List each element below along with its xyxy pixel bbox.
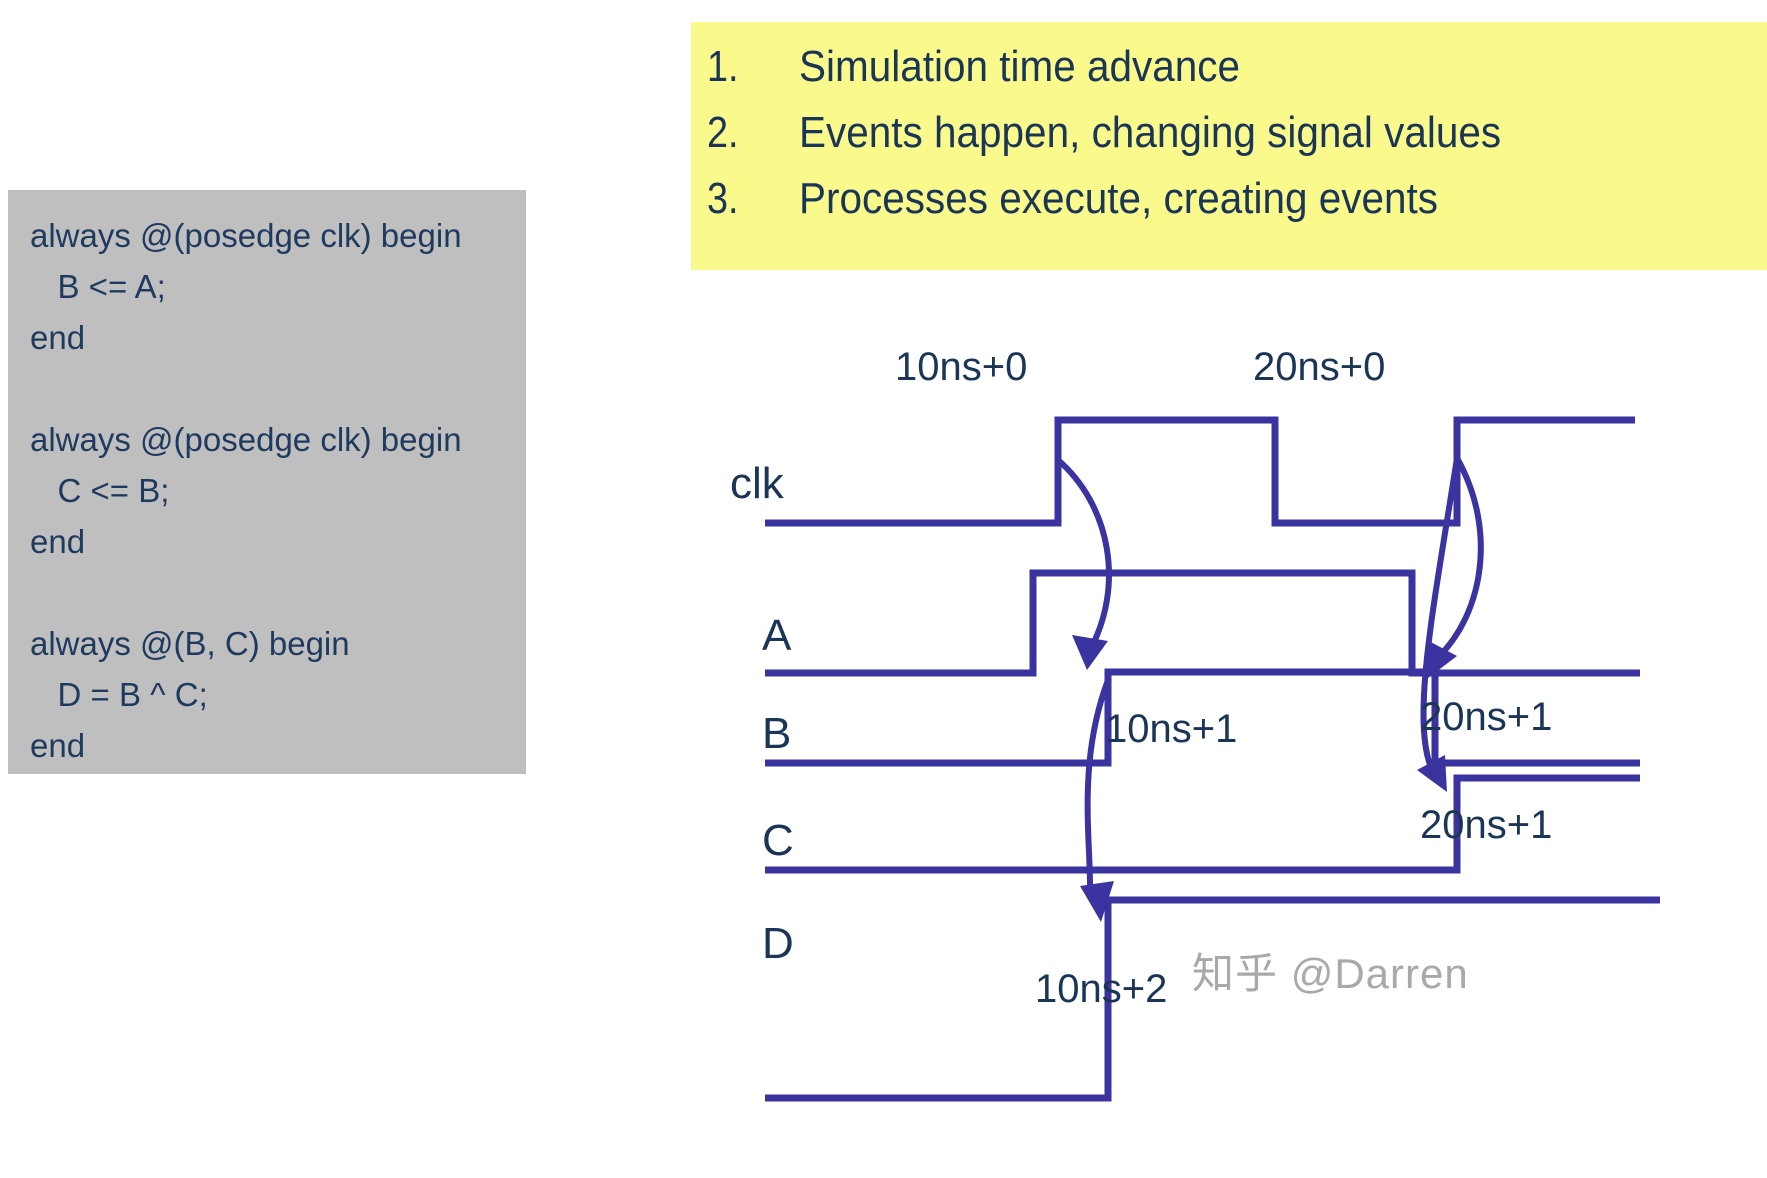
code-line: end bbox=[30, 516, 526, 567]
time-label-clk-rise-1: 10ns+0 bbox=[895, 345, 1027, 389]
step-text: Simulation time advance bbox=[799, 38, 1680, 96]
watermark-logo: 知乎 bbox=[1192, 949, 1278, 998]
simulation-cycle-steps-box: 1. Simulation time advance 2. Events hap… bbox=[691, 22, 1767, 270]
time-label-b-fall: 20ns+1 bbox=[1420, 695, 1552, 739]
time-label-c-rise: 20ns+1 bbox=[1420, 803, 1552, 847]
waveform-trace-a bbox=[765, 573, 1640, 673]
watermark-handle: @Darren bbox=[1291, 950, 1469, 997]
code-line: end bbox=[30, 312, 526, 363]
code-line: always @(posedge clk) begin bbox=[30, 210, 526, 261]
code-line-blank bbox=[30, 567, 526, 618]
signal-label-a: A bbox=[762, 611, 792, 660]
time-label-clk-rise-2: 20ns+0 bbox=[1253, 345, 1385, 389]
step-number: 1. bbox=[707, 38, 786, 96]
step-item: 2. Events happen, changing signal values bbox=[707, 104, 1757, 162]
signal-label-b: B bbox=[762, 709, 791, 758]
signal-label-d: D bbox=[762, 919, 794, 968]
causal-arrow-clk-to-b-head bbox=[1072, 635, 1108, 670]
step-number: 2. bbox=[707, 104, 786, 162]
step-item: 3. Processes execute, creating events bbox=[707, 170, 1757, 228]
waveform-diagram: clk A B C D 10ns+0 20ns+0 10ns+1 20ns+1 … bbox=[690, 330, 1767, 1178]
code-line: C <= B; bbox=[30, 465, 526, 516]
step-text: Processes execute, creating events bbox=[799, 170, 1680, 228]
signal-label-clk: clk bbox=[730, 459, 785, 508]
step-item: 1. Simulation time advance bbox=[707, 38, 1757, 96]
signal-label-c: C bbox=[762, 816, 794, 865]
code-line: B <= A; bbox=[30, 261, 526, 312]
step-number: 3. bbox=[707, 170, 786, 228]
time-label-b-rise: 10ns+1 bbox=[1105, 707, 1237, 751]
code-line: D = B ^ C; bbox=[30, 669, 526, 720]
time-label-d-rise: 10ns+2 bbox=[1035, 967, 1167, 1011]
watermark: 知乎 @Darren bbox=[1192, 940, 1469, 1001]
code-line: end bbox=[30, 720, 526, 771]
code-line: always @(posedge clk) begin bbox=[30, 414, 526, 465]
code-line-blank bbox=[30, 363, 526, 414]
code-line: always @(B, C) begin bbox=[30, 618, 526, 669]
step-text: Events happen, changing signal values bbox=[799, 104, 1680, 162]
waveform-trace-clk bbox=[765, 420, 1635, 523]
causal-arrow-clk-to-b bbox=[1058, 460, 1109, 650]
verilog-code-panel: always @(posedge clk) begin B <= A; end … bbox=[8, 190, 526, 774]
